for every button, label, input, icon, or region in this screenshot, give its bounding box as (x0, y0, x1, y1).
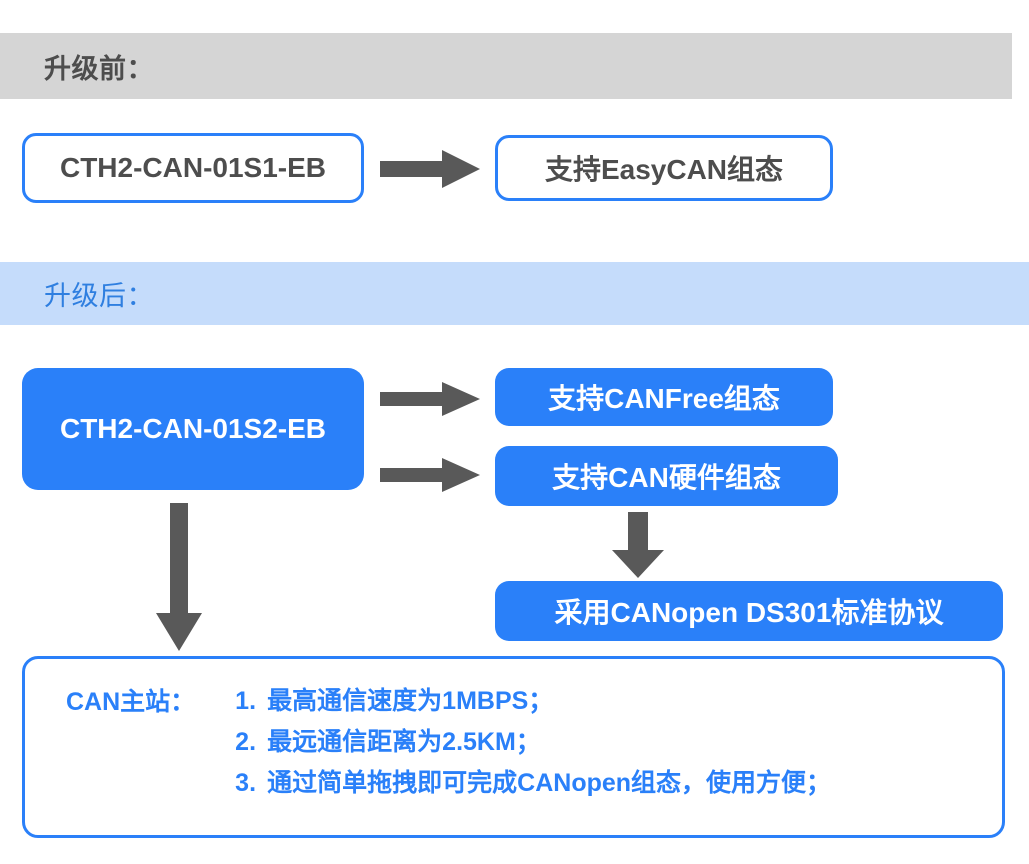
section-header-after-label: 升级后： (44, 274, 154, 313)
box-new-model-label: CTH2-CAN-01S2-EB (60, 413, 326, 445)
box-can-hardware[interactable]: 支持CAN硬件组态 (495, 446, 838, 506)
box-can-master-station[interactable]: CAN主站： 1. 最高通信速度为1MBPS； 2. 最远通信距离为2.5KM；… (22, 656, 1005, 838)
list-item: 2. 最远通信距离为2.5KM； (235, 722, 831, 763)
arrow-down-icon (612, 512, 664, 578)
box-canopen[interactable]: 采用CANopen DS301标准协议 (495, 581, 1003, 641)
box-old-model-label: CTH2-CAN-01S1-EB (60, 152, 326, 184)
box-new-model[interactable]: CTH2-CAN-01S2-EB (22, 368, 364, 490)
list-item-text: 最远通信距离为2.5KM； (267, 722, 541, 763)
master-station-title: CAN主站： (66, 681, 195, 718)
arrow-right-icon (380, 382, 480, 416)
list-item-text: 通过简单拖拽即可完成CANopen组态，使用方便； (267, 763, 831, 804)
diagram-canvas: 升级前： CTH2-CAN-01S1-EB 支持EasyCAN组态 升级后： C… (0, 0, 1029, 864)
master-station-content: CAN主站： 1. 最高通信速度为1MBPS； 2. 最远通信距离为2.5KM；… (66, 681, 831, 804)
section-header-before-label: 升级前： (44, 47, 154, 86)
box-canopen-label: 采用CANopen DS301标准协议 (555, 591, 944, 631)
box-old-model[interactable]: CTH2-CAN-01S1-EB (22, 133, 364, 203)
list-item-number: 3. (235, 763, 267, 804)
box-easycan[interactable]: 支持EasyCAN组态 (495, 135, 833, 201)
box-easycan-label: 支持EasyCAN组态 (545, 148, 783, 188)
arrow-right-icon (380, 150, 480, 188)
list-item-text: 最高通信速度为1MBPS； (267, 681, 553, 722)
box-canfree-label: 支持CANFree组态 (548, 377, 780, 417)
section-header-before: 升级前： (0, 33, 1012, 99)
list-item: 3. 通过简单拖拽即可完成CANopen组态，使用方便； (235, 763, 831, 804)
arrow-down-icon (156, 503, 202, 651)
list-item: 1. 最高通信速度为1MBPS； (235, 681, 831, 722)
list-item-number: 1. (235, 681, 267, 722)
master-station-feature-list: 1. 最高通信速度为1MBPS； 2. 最远通信距离为2.5KM； 3. 通过简… (235, 681, 831, 804)
section-header-after: 升级后： (0, 262, 1029, 325)
list-item-number: 2. (235, 722, 267, 763)
arrow-right-icon (380, 458, 480, 492)
box-canfree[interactable]: 支持CANFree组态 (495, 368, 833, 426)
box-can-hardware-label: 支持CAN硬件组态 (552, 456, 781, 496)
